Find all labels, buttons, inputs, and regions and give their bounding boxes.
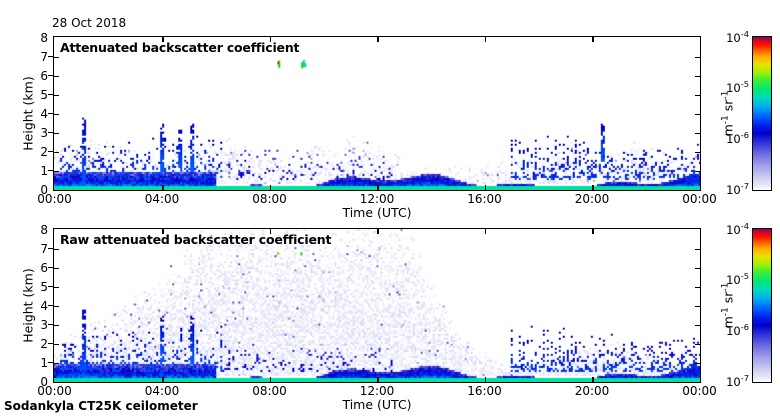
x-tick-label: 04:00 bbox=[145, 192, 180, 206]
x-tick-label: 00:00 bbox=[682, 384, 717, 398]
y-tick-mark-inner bbox=[54, 114, 59, 116]
x-tick-mark bbox=[377, 229, 379, 234]
colorbar-tick-label: 10-7 bbox=[715, 375, 749, 389]
x-tick-mark bbox=[162, 377, 164, 382]
x-tick-label: 00:00 bbox=[37, 384, 72, 398]
y-tick-mark-inner bbox=[695, 287, 700, 289]
x-tick-mark bbox=[377, 377, 379, 382]
y-tick-label: 8 bbox=[6, 223, 48, 237]
panel-title-top: Attenuated backscatter coefficient bbox=[60, 40, 299, 55]
x-axis-label-top: Time (UTC) bbox=[342, 205, 411, 220]
y-tick-mark-inner bbox=[54, 152, 59, 154]
panel-attenuated-backscatter[interactable]: Attenuated backscatter coefficient bbox=[53, 36, 701, 191]
x-tick-label: 00:00 bbox=[682, 192, 717, 206]
y-tick-label: 7 bbox=[6, 50, 48, 64]
colorbar-tick-label: 10-4 bbox=[715, 223, 749, 237]
x-tick-mark bbox=[485, 377, 487, 382]
x-tick-mark bbox=[485, 229, 487, 234]
site-caption: Sodankyla CT25K ceilometer bbox=[4, 399, 198, 413]
colorbar-label-top: m-1 sr-1 bbox=[721, 64, 736, 164]
colorbar-tick-label: 10-7 bbox=[715, 183, 749, 197]
x-tick-mark bbox=[592, 185, 594, 190]
y-tick-mark-inner bbox=[695, 133, 700, 135]
y-tick-mark bbox=[48, 248, 53, 250]
y-tick-mark bbox=[48, 343, 53, 345]
colorbar-tick-label: 10-4 bbox=[715, 31, 749, 45]
y-tick-mark-inner bbox=[54, 325, 59, 327]
x-tick-label: 08:00 bbox=[252, 192, 287, 206]
x-tick-mark bbox=[592, 229, 594, 234]
y-tick-mark bbox=[48, 362, 53, 364]
date-label: 28 Oct 2018 bbox=[52, 16, 126, 30]
y-tick-mark bbox=[48, 94, 53, 96]
y-axis-label-bottom: Height (km) bbox=[21, 256, 36, 356]
y-tick-mark-inner bbox=[54, 76, 59, 78]
y-tick-mark bbox=[48, 75, 53, 77]
y-tick-mark bbox=[48, 151, 53, 153]
x-axis-label-bottom: Time (UTC) bbox=[342, 397, 411, 412]
x-tick-label: 16:00 bbox=[467, 192, 502, 206]
x-tick-label: 20:00 bbox=[575, 192, 610, 206]
x-tick-label: 08:00 bbox=[252, 384, 287, 398]
y-tick-label: 7 bbox=[6, 242, 48, 256]
y-tick-mark-inner bbox=[54, 363, 59, 365]
y-tick-mark-inner bbox=[695, 114, 700, 116]
y-tick-mark bbox=[48, 324, 53, 326]
y-tick-mark-inner bbox=[695, 268, 700, 270]
x-tick-mark bbox=[485, 185, 487, 190]
y-tick-mark bbox=[48, 267, 53, 269]
x-tick-mark bbox=[592, 37, 594, 42]
colorbar-top[interactable] bbox=[752, 36, 772, 191]
panel-raw-attenuated-backscatter[interactable]: Raw attenuated backscatter coefficient bbox=[53, 228, 701, 383]
y-tick-mark-inner bbox=[695, 363, 700, 365]
y-tick-mark-inner bbox=[54, 171, 59, 173]
figure-root: 28 Oct 2018 Attenuated backscatter coeff… bbox=[0, 0, 780, 420]
y-tick-mark bbox=[48, 56, 53, 58]
y-tick-mark-inner bbox=[54, 344, 59, 346]
x-tick-mark bbox=[592, 377, 594, 382]
y-tick-mark-inner bbox=[695, 344, 700, 346]
x-tick-mark bbox=[485, 37, 487, 42]
x-tick-mark bbox=[162, 185, 164, 190]
y-tick-label: 1 bbox=[6, 164, 48, 178]
x-tick-mark bbox=[270, 185, 272, 190]
y-tick-mark bbox=[48, 132, 53, 134]
y-tick-mark-inner bbox=[54, 306, 59, 308]
y-tick-mark-inner bbox=[695, 325, 700, 327]
x-tick-label: 04:00 bbox=[145, 384, 180, 398]
y-tick-mark bbox=[48, 113, 53, 115]
x-tick-label: 00:00 bbox=[37, 192, 72, 206]
y-tick-mark-inner bbox=[54, 287, 59, 289]
y-tick-mark-inner bbox=[54, 57, 59, 59]
y-tick-label: 8 bbox=[6, 31, 48, 45]
x-tick-mark bbox=[377, 185, 379, 190]
colorbar-bottom[interactable] bbox=[752, 228, 772, 383]
y-tick-mark-inner bbox=[54, 133, 59, 135]
y-tick-mark-inner bbox=[54, 95, 59, 97]
panel-title-bottom: Raw attenuated backscatter coefficient bbox=[60, 232, 331, 247]
y-tick-label: 1 bbox=[6, 356, 48, 370]
y-tick-mark bbox=[48, 305, 53, 307]
x-tick-label: 12:00 bbox=[360, 384, 395, 398]
x-tick-label: 16:00 bbox=[467, 384, 502, 398]
y-tick-mark-inner bbox=[695, 249, 700, 251]
x-tick-mark bbox=[377, 37, 379, 42]
colorbar-label-bottom: m-1 sr-1 bbox=[721, 256, 736, 356]
y-tick-mark-inner bbox=[54, 268, 59, 270]
y-tick-mark bbox=[48, 170, 53, 172]
y-tick-mark bbox=[48, 286, 53, 288]
backscatter-heatmap-bottom bbox=[54, 229, 700, 382]
x-tick-mark bbox=[270, 377, 272, 382]
y-tick-mark-inner bbox=[695, 306, 700, 308]
y-tick-mark-inner bbox=[695, 95, 700, 97]
y-tick-mark-inner bbox=[695, 171, 700, 173]
y-tick-mark-inner bbox=[695, 76, 700, 78]
y-tick-mark-inner bbox=[695, 152, 700, 154]
y-tick-mark-inner bbox=[695, 57, 700, 59]
backscatter-heatmap-top bbox=[54, 37, 700, 190]
x-tick-label: 20:00 bbox=[575, 384, 610, 398]
y-axis-label-top: Height (km) bbox=[21, 64, 36, 164]
x-tick-label: 12:00 bbox=[360, 192, 395, 206]
y-tick-mark-inner bbox=[54, 249, 59, 251]
